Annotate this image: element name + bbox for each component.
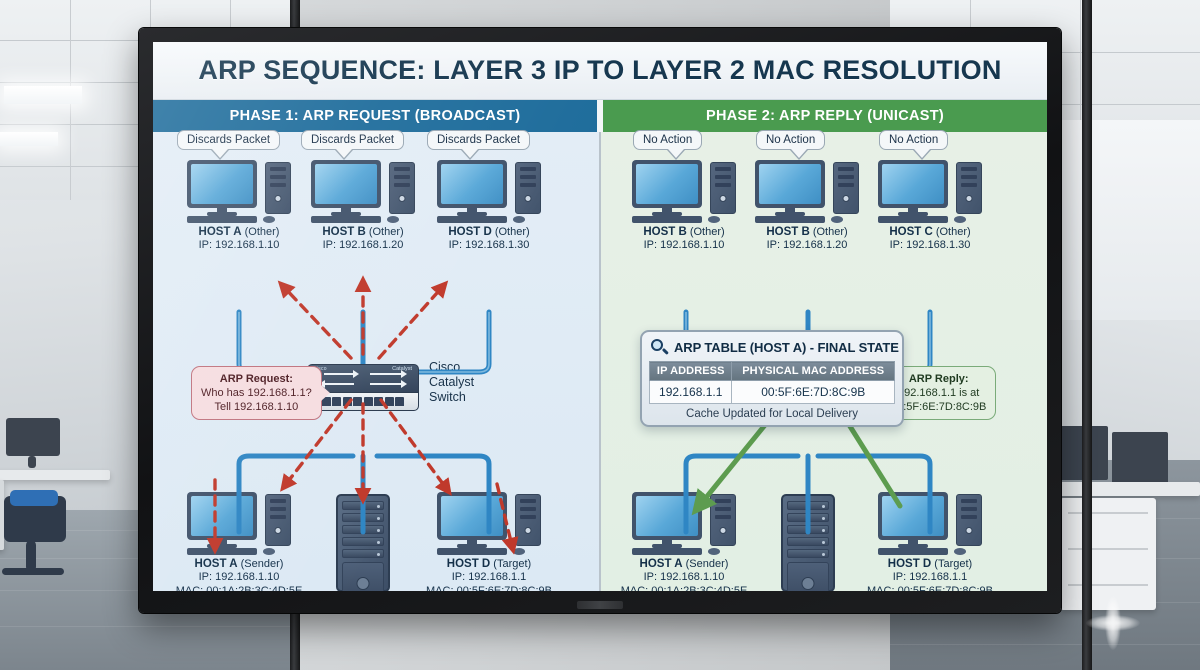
column-header-mac: PHYSICAL MAC ADDRESS [732,362,895,381]
drawer-line [1068,548,1148,550]
network-cables-left [153,132,600,591]
callout-heading: ARP Request: [201,372,312,386]
status-bubble: No Action [633,130,702,150]
callout-line-2: Tell 192.168.1.10 [214,401,298,413]
window-mullion [1082,0,1092,670]
panel-divider [599,132,601,591]
page-title: ARP SEQUENCE: LAYER 3 IP TO LAYER 2 MAC … [198,55,1001,86]
status-bubble: Discards Packet [427,130,530,150]
office-chair-seat [10,490,58,506]
callout-line-1: Who has 192.168.1.1? [201,387,312,399]
slide-title-bar: ARP SEQUENCE: LAYER 3 IP TO LAYER 2 MAC … [153,42,1047,100]
ceiling-light [0,132,58,146]
cell-ip-address: 192.168.1.1 [650,381,732,404]
switch-model-text: Catalyst [392,366,412,372]
arp-table-popup[interactable]: ARP TABLE (HOST A) - FINAL STATE IP ADDR… [640,330,904,427]
sparkle-watermark-icon [1086,596,1140,650]
status-bubble: Discards Packet [177,130,280,150]
monitor [1112,432,1168,484]
table-row: 192.168.1.1 00:5F:6E:7D:8C:9B [650,381,895,404]
arp-request-callout: ARP Request: Who has 192.168.1.1? Tell 1… [191,366,322,420]
arp-table-grid: IP ADDRESS PHYSICAL MAC ADDRESS 192.168.… [649,361,895,404]
status-bubble: Discards Packet [301,130,404,150]
phase-1-header: PHASE 1: ARP REQUEST (BROADCAST) [153,100,597,132]
table-header-row: IP ADDRESS PHYSICAL MAC ADDRESS [650,362,895,381]
pedestal-drawers [1060,498,1156,610]
arp-table-header: ARP TABLE (HOST A) - FINAL STATE [649,338,895,361]
drawer-line [1068,512,1148,514]
desk [0,470,110,480]
magnifier-icon [651,339,668,356]
arp-table-footer: Cache Updated for Local Delivery [649,404,895,420]
display-screen: ARP SEQUENCE: LAYER 3 IP TO LAYER 2 MAC … [153,42,1047,591]
slide-canvas: ARP SEQUENCE: LAYER 3 IP TO LAYER 2 MAC … [153,42,1047,591]
wall-display: ARP SEQUENCE: LAYER 3 IP TO LAYER 2 MAC … [139,28,1061,613]
display-brand-logo [577,601,623,609]
phase-2-header: PHASE 2: ARP REPLY (UNICAST) [603,100,1047,132]
column-header-ip: IP ADDRESS [650,362,732,381]
callout-line-1: 192.168.1.1 is at [898,387,979,399]
status-bubble: No Action [879,130,948,150]
callout-heading: ARP Reply: [891,372,986,386]
monitor-stand [28,456,36,468]
monitor [6,418,60,456]
callout-line-2: 00:5F:6E:7D:8C:9B [891,401,986,413]
ceiling-light [4,86,82,104]
cell-mac-address: 00:5F:6E:7D:8C:9B [732,381,895,404]
chair-base [2,568,64,575]
phase-header-bar: PHASE 1: ARP REQUEST (BROADCAST) PHASE 2… [153,100,1047,132]
status-bubble: No Action [756,130,825,150]
phase-1-panel: Discards Packet HOST A (Other) IP: 192.1… [153,132,600,591]
arp-table-title: ARP TABLE (HOST A) - FINAL STATE [674,340,899,355]
drawer-line [1068,584,1148,586]
diagram-panels: Discards Packet HOST A (Other) IP: 192.1… [153,132,1047,591]
